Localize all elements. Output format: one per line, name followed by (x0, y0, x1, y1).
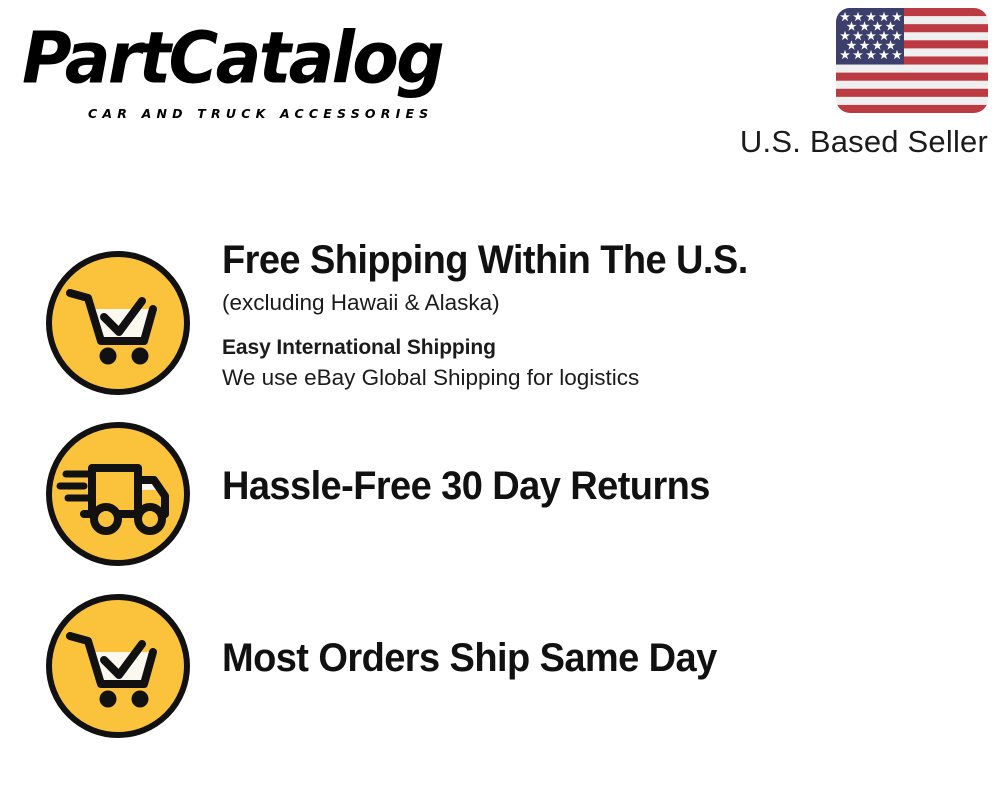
us-flag-icon (836, 8, 988, 113)
feature-text-block: Free Shipping Within The U.S. (excluding… (222, 236, 982, 393)
shopping-cart-check-icon (44, 249, 192, 397)
shipping-info-banner: PartCatalog CAR AND TRUCK ACCESSORIES (0, 0, 1000, 800)
delivery-truck-icon (44, 420, 192, 568)
feature-subtitle-bold: Easy International Shipping (222, 332, 982, 363)
feature-title: Most Orders Ship Same Day (222, 635, 944, 681)
feature-title: Free Shipping Within The U.S. (222, 237, 944, 283)
brand-wordmark: PartCatalog (22, 20, 520, 98)
us-based-seller-label: U.S. Based Seller (688, 124, 988, 160)
feature-text-block: Hassle-Free 30 Day Returns (222, 407, 982, 509)
feature-row: Hassle-Free 30 Day Returns (0, 407, 1000, 579)
feature-row: Most Orders Ship Same Day (0, 579, 1000, 751)
feature-row: Free Shipping Within The U.S. (excluding… (0, 236, 1000, 408)
us-based-seller-badge: U.S. Based Seller (688, 8, 988, 160)
brand-tagline: CAR AND TRUCK ACCESSORIES (88, 106, 433, 121)
feature-subtitle: (excluding Hawaii & Alaska) (222, 288, 982, 318)
shopping-cart-check-icon (44, 592, 192, 740)
brand-logo[interactable]: PartCatalog CAR AND TRUCK ACCESSORIES (22, 20, 492, 115)
feature-title: Hassle-Free 30 Day Returns (222, 463, 944, 509)
feature-text-block: Most Orders Ship Same Day (222, 579, 982, 681)
feature-subtitle: We use eBay Global Shipping for logistic… (222, 363, 982, 393)
